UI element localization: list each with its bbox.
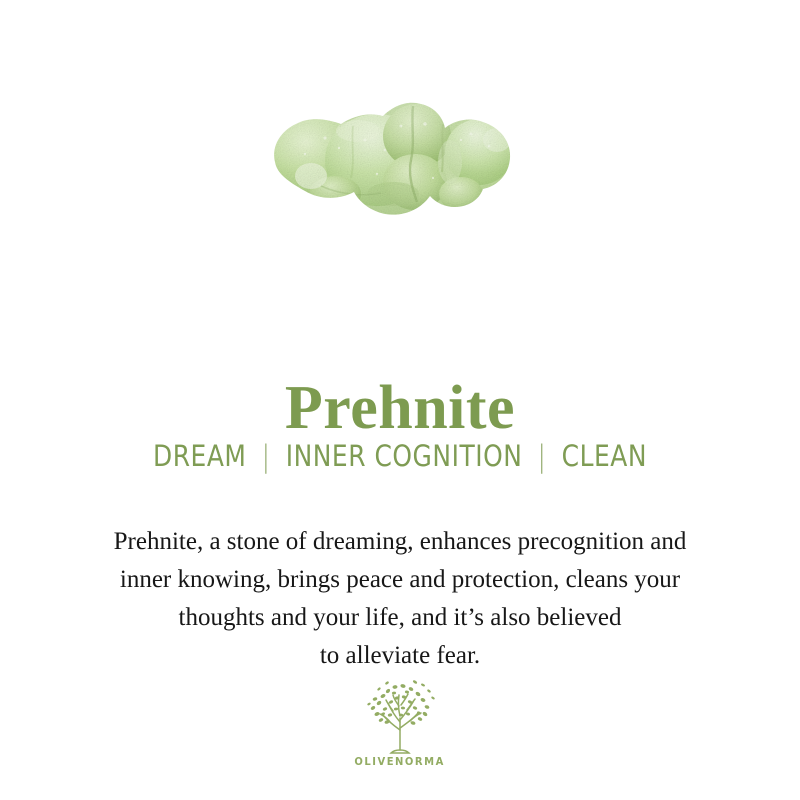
brand-logo[interactable]: OLIVENORMA <box>0 678 800 768</box>
page-title: Prehnite <box>0 372 800 444</box>
description-text: Prehnite, a stone of dreaming, enhances … <box>0 523 800 675</box>
prehnite-stone-illustration <box>265 90 535 240</box>
keyword-dream: DREAM <box>153 439 246 473</box>
description-line: thoughts and your life, and it’s also be… <box>0 599 800 637</box>
description-line: to alleviate fear. <box>0 637 800 675</box>
description-line: inner knowing, brings peace and protecti… <box>0 561 800 599</box>
keyword-list: DREAM | INNER COGNITION | CLEAN <box>56 438 744 474</box>
keyword-separator: | <box>255 437 277 475</box>
brand-name: OLIVENORMA <box>355 756 445 768</box>
prehnite-stone-image <box>0 80 800 250</box>
keyword-clean: CLEAN <box>562 439 647 473</box>
keyword-separator: | <box>531 437 553 475</box>
keyword-inner-cognition: INNER COGNITION <box>286 439 523 473</box>
description-line: Prehnite, a stone of dreaming, enhances … <box>0 523 800 561</box>
tree-of-life-icon <box>357 678 443 754</box>
product-info-card: Prehnite DREAM | INNER COGNITION | CLEAN… <box>0 0 800 800</box>
